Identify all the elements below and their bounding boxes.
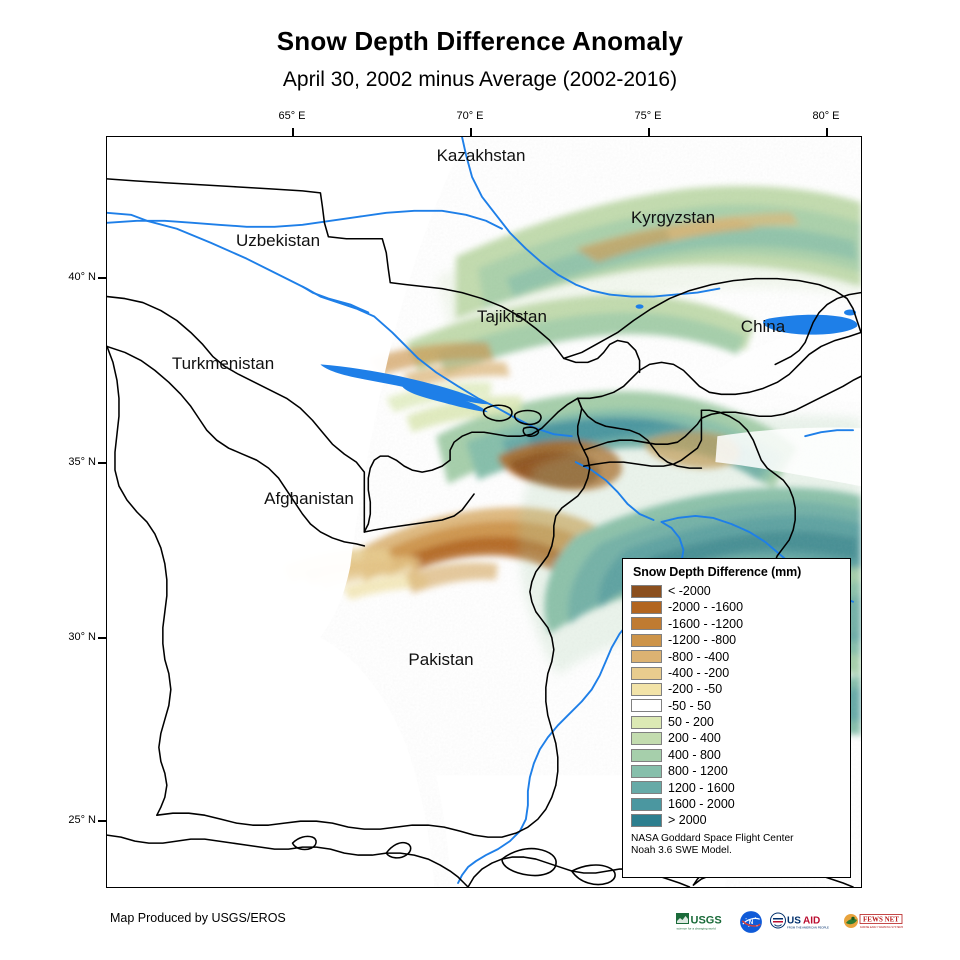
legend-class-label: 400 - 800	[668, 749, 721, 762]
lat-tick	[98, 637, 106, 639]
svg-text:N: N	[749, 920, 753, 926]
legend-class-label: 1200 - 1600	[668, 782, 735, 795]
legend-footnote-line2: Noah 3.6 SWE Model.	[631, 845, 842, 857]
usgs-logo: USGS science for a changing world	[676, 910, 732, 934]
legend-color-swatch	[631, 699, 662, 712]
legend-color-swatch	[631, 814, 662, 827]
legend-class-row: -1200 - -800	[631, 632, 842, 648]
legend-class-row: 1200 - 1600	[631, 780, 842, 796]
svg-text:FEWS NET: FEWS NET	[863, 916, 899, 924]
legend-color-swatch	[631, 617, 662, 630]
fewsnet-logo: FEWS NET FAMINE EARLY WARNING SYSTEMS NE…	[843, 910, 903, 934]
lon-tick	[648, 128, 650, 136]
legend-color-swatch	[631, 749, 662, 762]
map-credit: Map Produced by USGS/EROS	[110, 911, 286, 925]
lon-tick-label: 70° E	[456, 110, 483, 122]
legend-class-row: -2000 - -1600	[631, 599, 842, 615]
legend-color-swatch	[631, 781, 662, 794]
lat-tick-label: 35° N	[68, 456, 96, 468]
page-subtitle: April 30, 2002 minus Average (2002-2016)	[0, 68, 960, 92]
legend-class-row: -800 - -400	[631, 649, 842, 665]
country-label: Kazakhstan	[437, 146, 526, 166]
legend-class-label: < -2000	[668, 585, 711, 598]
legend-color-swatch	[631, 585, 662, 598]
legend-box[interactable]: Snow Depth Difference (mm) < -2000-2000 …	[622, 558, 851, 878]
legend-class-row: 800 - 1200	[631, 763, 842, 779]
country-label: Pakistan	[408, 650, 473, 670]
legend-color-swatch	[631, 650, 662, 663]
legend-color-swatch	[631, 667, 662, 680]
legend-class-label: -400 - -200	[668, 667, 729, 680]
legend-class-label: 800 - 1200	[668, 765, 728, 778]
lon-tick-label: 75° E	[634, 110, 661, 122]
usaid-logo: US AID FROM THE AMERICAN PEOPLE	[770, 910, 836, 934]
legend-class-label: -200 - -50	[668, 683, 722, 696]
legend-class-row: -200 - -50	[631, 681, 842, 697]
legend-class-row: 200 - 400	[631, 731, 842, 747]
svg-text:FROM THE AMERICAN PEOPLE: FROM THE AMERICAN PEOPLE	[787, 926, 829, 930]
legend-class-row: -50 - 50	[631, 698, 842, 714]
svg-text:US: US	[787, 916, 801, 927]
svg-text:USGS: USGS	[691, 915, 722, 927]
legend-class-row: -400 - -200	[631, 665, 842, 681]
legend-footnote-line1: NASA Goddard Space Flight Center	[631, 833, 842, 845]
svg-text:FAMINE EARLY WARNING SYSTEMS N: FAMINE EARLY WARNING SYSTEMS NETWORK	[860, 926, 903, 929]
legend-class-row: -1600 - -1200	[631, 616, 842, 632]
legend-color-swatch	[631, 732, 662, 745]
legend-class-row: 400 - 800	[631, 747, 842, 763]
legend-class-row: 1600 - 2000	[631, 796, 842, 812]
lon-tick	[826, 128, 828, 136]
lat-tick-label: 25° N	[68, 814, 96, 826]
svg-text:AID: AID	[803, 916, 820, 927]
legend-color-swatch	[631, 601, 662, 614]
legend-class-label: -1600 - -1200	[668, 618, 743, 631]
lat-tick-label: 40° N	[68, 271, 96, 283]
nasa-logo: N	[739, 910, 763, 934]
lat-tick	[98, 462, 106, 464]
country-label: Tajikistan	[477, 307, 547, 327]
lon-tick	[292, 128, 294, 136]
legend-class-label: 50 - 200	[668, 716, 714, 729]
country-label: Kyrgyzstan	[631, 208, 715, 228]
lat-tick-label: 30° N	[68, 631, 96, 643]
svg-text:science for a changing world: science for a changing world	[677, 927, 716, 931]
map-canvas[interactable]: KazakhstanUzbekistanKyrgyzstanTajikistan…	[106, 136, 862, 888]
country-label: China	[741, 317, 785, 337]
lat-tick	[98, 820, 106, 822]
legend-class-list: < -2000-2000 - -1600-1600 - -1200-1200 -…	[631, 583, 842, 829]
legend-class-label: > 2000	[668, 814, 707, 827]
lat-tick	[98, 277, 106, 279]
lon-tick-label: 80° E	[812, 110, 839, 122]
legend-class-label: -50 - 50	[668, 700, 711, 713]
legend-title: Snow Depth Difference (mm)	[633, 565, 842, 579]
legend-class-label: -2000 - -1600	[668, 601, 743, 614]
legend-color-swatch	[631, 634, 662, 647]
lon-tick-label: 65° E	[278, 110, 305, 122]
legend-color-swatch	[631, 716, 662, 729]
legend-class-label: -800 - -400	[668, 651, 729, 664]
agency-logo-strip: USGS science for a changing world N	[676, 908, 903, 936]
country-label: Turkmenistan	[172, 354, 274, 374]
lon-tick	[470, 128, 472, 136]
legend-class-row: 50 - 200	[631, 714, 842, 730]
legend-footnote: NASA Goddard Space Flight Center Noah 3.…	[631, 833, 842, 858]
country-label: Afghanistan	[264, 489, 354, 509]
legend-color-swatch	[631, 798, 662, 811]
legend-class-row: > 2000	[631, 812, 842, 828]
legend-class-label: 200 - 400	[668, 732, 721, 745]
country-label: Uzbekistan	[236, 231, 320, 251]
legend-color-swatch	[631, 683, 662, 696]
legend-color-swatch	[631, 765, 662, 778]
legend-class-label: -1200 - -800	[668, 634, 736, 647]
page-title: Snow Depth Difference Anomaly	[0, 26, 960, 57]
legend-class-label: 1600 - 2000	[668, 798, 735, 811]
legend-class-row: < -2000	[631, 583, 842, 599]
map-page: Snow Depth Difference Anomaly April 30, …	[0, 0, 960, 960]
